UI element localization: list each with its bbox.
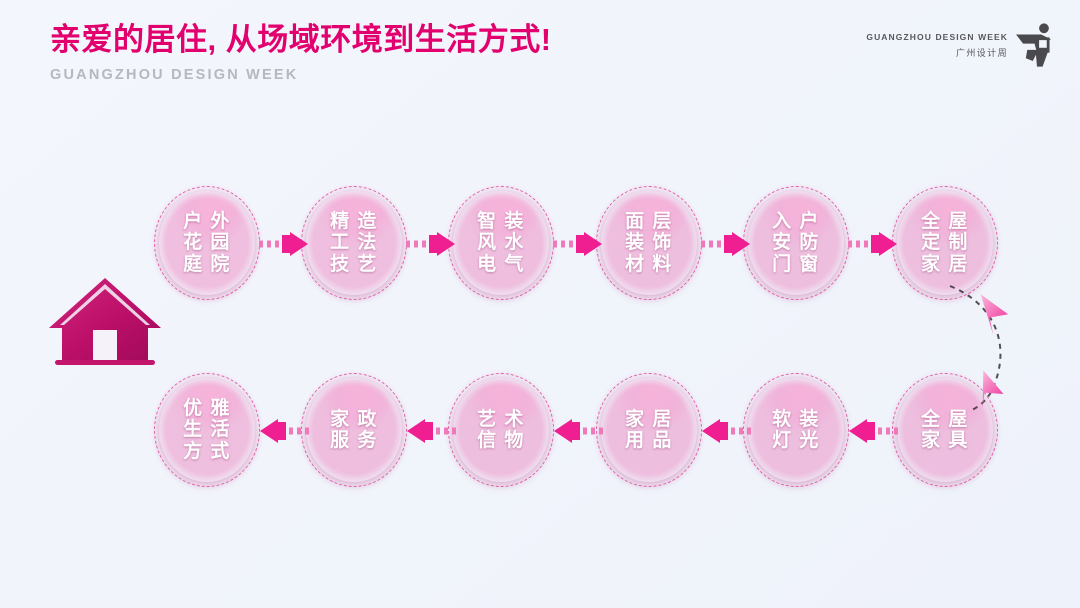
node-art-token[interactable]: 艺 术信 物 [453, 378, 549, 482]
node-label-line: 材 料 [625, 254, 673, 275]
node-label-line: 庭 院 [183, 254, 231, 275]
node-label-line: 用 品 [625, 430, 673, 451]
arrow-right-icon [405, 231, 457, 257]
brand-name-cn: 广州设计周 [956, 46, 1008, 59]
header: 亲爱的居住, 从场域环境到生活方式! GUANGZHOU DESIGN WEEK [50, 22, 552, 83]
brand-logo-text: GUANGZHOU DESIGN WEEK 广州设计周 [866, 32, 1008, 59]
node-label-line: 入 户 [772, 211, 820, 232]
node-label: 艺 术信 物 [477, 409, 525, 452]
node-outdoor-garden-courtyard[interactable]: 户 外花 园庭 院 [159, 191, 255, 295]
arrow-left-icon [405, 418, 457, 444]
node-label-line: 精 造 [330, 211, 378, 232]
node-label-line: 门 窗 [772, 254, 820, 275]
node-home-goods[interactable]: 家 居用 品 [601, 378, 697, 482]
node-label-line: 花 园 [183, 232, 231, 253]
page-subtitle: GUANGZHOU DESIGN WEEK [50, 67, 552, 83]
node-soft-decor-lighting[interactable]: 软 装灯 光 [748, 378, 844, 482]
node-label-line: 家 具 [921, 430, 969, 451]
arrow-left-icon [847, 418, 899, 444]
node-label: 家 居用 品 [625, 409, 673, 452]
node-label-line: 信 物 [477, 430, 525, 451]
node-household-service[interactable]: 家 政服 务 [306, 378, 402, 482]
arrow-right-icon [552, 231, 604, 257]
node-label: 智 装风 水电 气 [477, 211, 525, 275]
node-label-line: 安 防 [772, 232, 820, 253]
node-label-line: 艺 术 [477, 409, 525, 430]
node-label-line: 电 气 [477, 254, 525, 275]
node-label-line: 定 制 [921, 232, 969, 253]
node-label-line: 装 饰 [625, 232, 673, 253]
brand-name-en: GUANGZHOU DESIGN WEEK [866, 32, 1008, 42]
node-surface-decor-material[interactable]: 面 层装 饰材 料 [601, 191, 697, 295]
node-label: 精 造工 法技 艺 [330, 211, 378, 275]
node-label-line: 方 式 [183, 441, 231, 462]
node-label: 入 户安 防门 窗 [772, 211, 820, 275]
node-label-line: 软 装 [772, 409, 820, 430]
flying-figure-logo-icon [1016, 22, 1058, 68]
node-label-line: 户 外 [183, 211, 231, 232]
node-label: 面 层装 饰材 料 [625, 211, 673, 275]
node-label-line: 智 装 [477, 211, 525, 232]
node-elegant-lifestyle[interactable]: 优 雅生 活方 式 [159, 378, 255, 482]
node-label-line: 服 务 [330, 430, 378, 451]
slide-canvas: 亲爱的居住, 从场域环境到生活方式! GUANGZHOU DESIGN WEEK… [0, 0, 1080, 608]
node-smart-fengshui-electric[interactable]: 智 装风 水电 气 [453, 191, 549, 295]
node-label: 软 装灯 光 [772, 409, 820, 452]
node-label-line: 家 居 [921, 254, 969, 275]
node-label-line: 全 屋 [921, 211, 969, 232]
curved-dashed-arrow-icon [938, 280, 1068, 415]
brand-logo: GUANGZHOU DESIGN WEEK 广州设计周 [866, 22, 1058, 68]
arrow-right-icon [700, 231, 752, 257]
node-entry-security-door[interactable]: 入 户安 防门 窗 [748, 191, 844, 295]
arrow-left-icon [700, 418, 752, 444]
node-label-line: 生 活 [183, 419, 231, 440]
node-label-line: 全 屋 [921, 409, 969, 430]
node-label-line: 风 水 [477, 232, 525, 253]
arrow-left-icon [258, 418, 310, 444]
node-label: 全 屋家 具 [921, 409, 969, 452]
node-label-line: 技 艺 [330, 254, 378, 275]
node-label: 户 外花 园庭 院 [183, 211, 231, 275]
node-label: 全 屋定 制家 居 [921, 211, 969, 275]
arrow-right-icon [847, 231, 899, 257]
node-label-line: 工 法 [330, 232, 378, 253]
node-label-line: 家 居 [625, 409, 673, 430]
node-label-line: 家 政 [330, 409, 378, 430]
node-label: 优 雅生 活方 式 [183, 398, 231, 462]
node-label: 家 政服 务 [330, 409, 378, 452]
node-label-line: 面 层 [625, 211, 673, 232]
page-title: 亲爱的居住, 从场域环境到生活方式! [50, 22, 552, 58]
node-label-line: 优 雅 [183, 398, 231, 419]
house-icon [45, 272, 165, 372]
arrow-right-icon [258, 231, 310, 257]
arrow-left-icon [552, 418, 604, 444]
node-fine-craft-technique[interactable]: 精 造工 法技 艺 [306, 191, 402, 295]
node-label-line: 灯 光 [772, 430, 820, 451]
